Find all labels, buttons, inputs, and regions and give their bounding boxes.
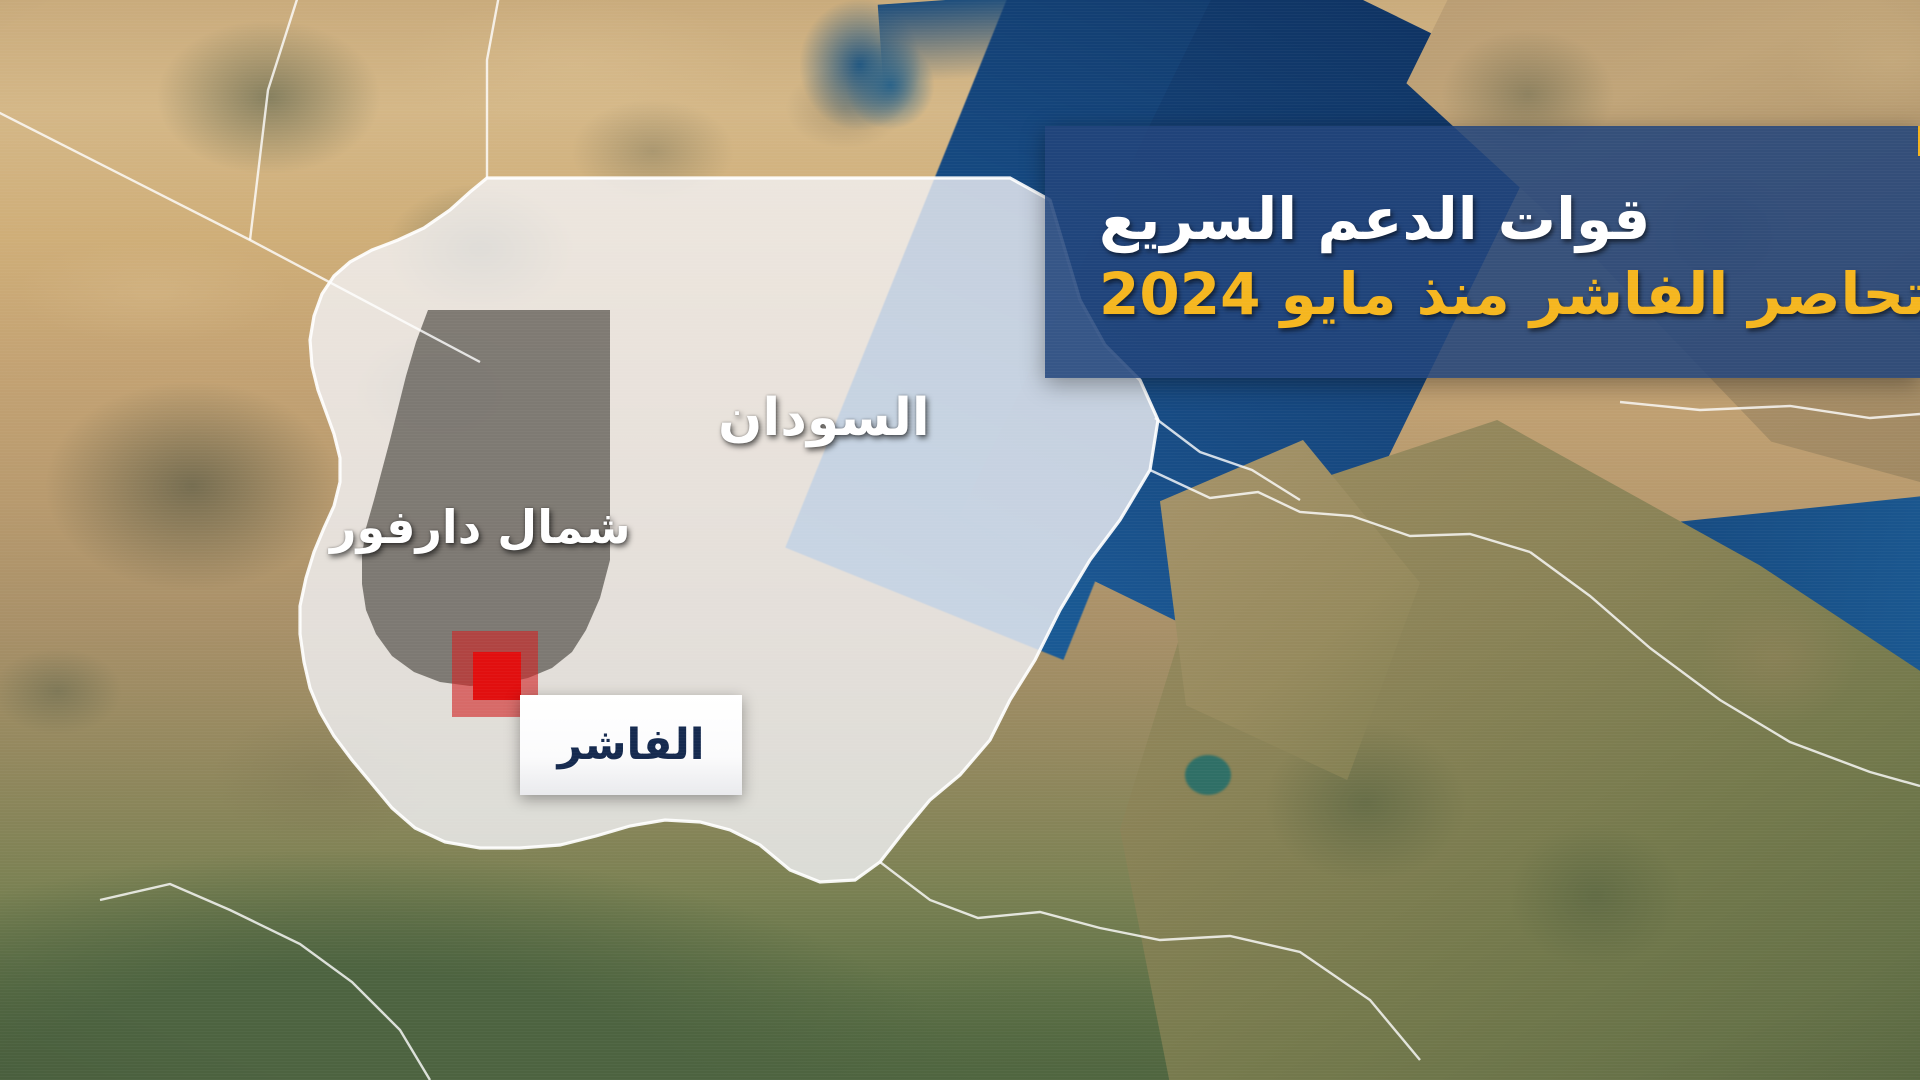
headline-banner: قوات الدعم السريع تحاصر الفاشر منذ مايو …	[1045, 126, 1920, 378]
el-fasher-marker-dot[interactable]	[473, 652, 521, 700]
headline-banner-content: قوات الدعم السريع تحاصر الفاشر منذ مايو …	[1045, 126, 1920, 378]
headline-line-1: قوات الدعم السريع	[1099, 187, 1650, 252]
ethiopia-eritrea-border-line	[1150, 470, 1530, 552]
saudi-yemen-border-line	[1620, 402, 1920, 418]
south-sudan-ethiopia-border-line	[880, 862, 1420, 1060]
north-darfur-region-label: شمال دارفور	[330, 500, 631, 554]
egypt-sudan-border-line	[487, 0, 500, 178]
south-sudan-car-border-line	[100, 884, 430, 1080]
eritrea-coast-border-line	[1155, 418, 1300, 500]
headline-line-2: تحاصر الفاشر منذ مايو 2024	[1099, 262, 1920, 327]
map-graphic-stage: الفاشر السودان شمال دارفور قوات الدعم ال…	[0, 0, 1920, 1080]
ethiopia-somalia-border-line	[1530, 552, 1920, 786]
chad-niger-border-line	[250, 0, 300, 240]
sudan-country-label: السودان	[718, 388, 930, 448]
el-fasher-city-label-box[interactable]: الفاشر	[520, 695, 742, 795]
el-fasher-city-label-text: الفاشر	[558, 724, 705, 767]
